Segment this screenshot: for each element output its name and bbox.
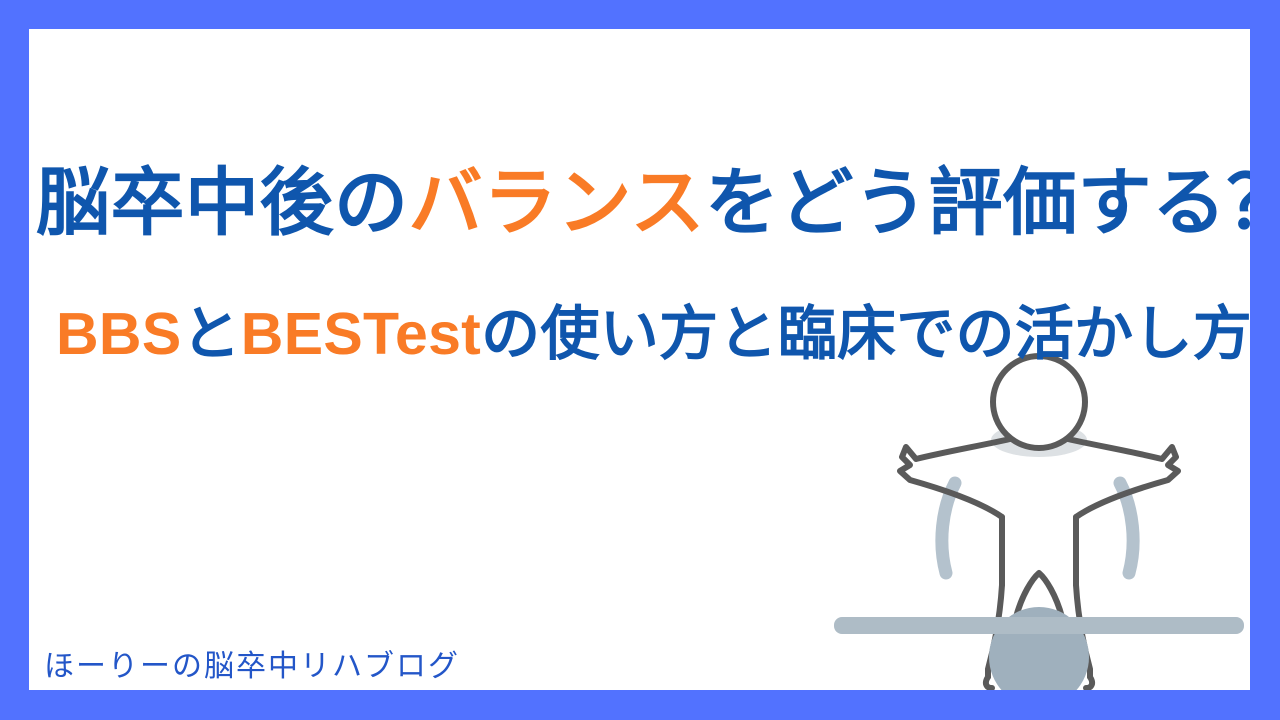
subheadline-segment-3: BESTest [241, 301, 481, 367]
headline-segment-3: をどう評価する？ [705, 161, 1250, 244]
subheadline-segment-2: と [181, 301, 240, 367]
thumbnail-canvas: 脳卒中後のバランスをどう評価する？ BBSとBESTestの使い方と臨床での活か… [0, 0, 1280, 720]
balance-board-icon [834, 617, 1244, 634]
page-title: 脳卒中後のバランスをどう評価する？ [36, 166, 1243, 240]
headline-segment-2: バランス [409, 161, 706, 244]
head-circle-icon [993, 356, 1085, 448]
blog-name-label: ほーりーの脳卒中リハブログ [44, 641, 460, 685]
person-balancing-on-board-illustration [824, 347, 1250, 690]
page-subtitle: BBSとBESTestの使い方と臨床での活かし方 [56, 305, 1236, 364]
headline-segment-1: 脳卒中後の [36, 161, 409, 244]
white-card: 脳卒中後のバランスをどう評価する？ BBSとBESTestの使い方と臨床での活か… [29, 29, 1250, 690]
subheadline-segment-4: の使い方と臨床での活かし方 [481, 301, 1250, 367]
subheadline-segment-1: BBS [56, 301, 181, 367]
